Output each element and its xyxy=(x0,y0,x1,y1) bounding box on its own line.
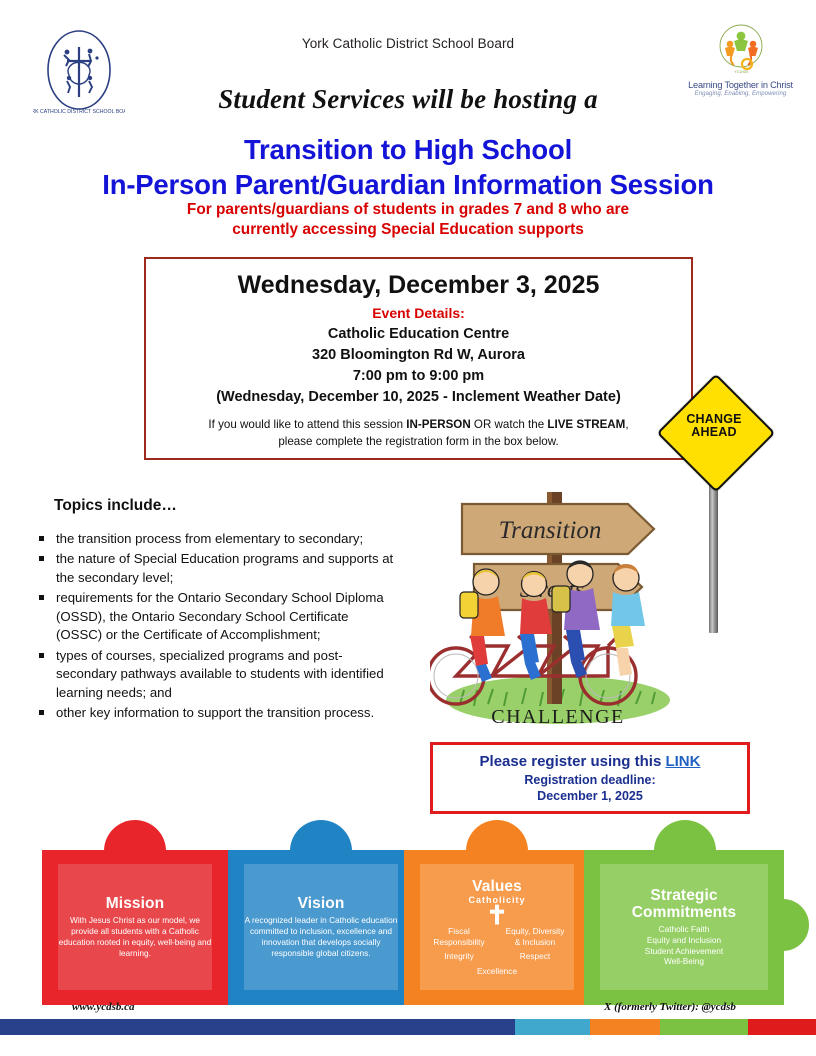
registration-deadline: Registration deadline: December 1, 2025 xyxy=(433,772,747,805)
svg-text:YCDSB: YCDSB xyxy=(734,69,748,74)
registration-box[interactable]: Please register using this LINK Registra… xyxy=(430,742,750,814)
list-item: types of courses, specialized programs a… xyxy=(36,647,396,702)
event-detail-lines: Catholic Education Centre 320 Bloomingto… xyxy=(146,324,691,408)
list-item: requirements for the Ontario Secondary S… xyxy=(36,589,396,644)
values-grid: Catholicity ✝ Fiscal Responsibility Equi… xyxy=(420,895,574,976)
puzzle-piece-values: Values Catholicity ✝ Fiscal Responsibili… xyxy=(404,850,590,1005)
note-pre: If you would like to attend this session xyxy=(208,418,406,431)
illus-ground-label: CHALLENGE xyxy=(491,706,624,728)
puzzle-inner: Vision A recognized leader in Catholic e… xyxy=(244,864,398,990)
note-inperson: IN-PERSON xyxy=(406,418,470,431)
note-livestream: LIVE STREAM xyxy=(547,418,625,431)
list-item: the nature of Special Education programs… xyxy=(36,550,396,587)
puzzle-title: Vision xyxy=(298,895,345,912)
page-title: Transition to High School In-Person Pare… xyxy=(0,133,816,202)
deadline-label: Registration deadline: xyxy=(433,772,747,788)
footer-website[interactable]: www.ycdsb.ca xyxy=(72,1001,135,1013)
puzzle-title: Values xyxy=(472,878,522,895)
event-venue: Catholic Education Centre xyxy=(146,324,691,345)
puzzle-body-text: Catholic Faith Equity and Inclusion Stud… xyxy=(645,924,723,967)
puzzle-inner: Mission With Jesus Christ as our model, … xyxy=(58,864,212,990)
puzzle-piece-mission: Mission With Jesus Christ as our model, … xyxy=(42,850,228,1005)
bar-segment-red xyxy=(748,1019,816,1035)
transition-streets-illustration: Transition Streets xyxy=(430,468,685,733)
puzzle-footer: Mission With Jesus Christ as our model, … xyxy=(0,828,816,1018)
change-ahead-sign: CHANGE AHEAD xyxy=(668,383,760,633)
puzzle-inner: Values Catholicity ✝ Fiscal Responsibili… xyxy=(420,864,574,990)
event-address: 320 Bloomington Rd W, Aurora xyxy=(146,345,691,366)
bar-segment-teal xyxy=(515,1019,590,1035)
sign-line-1: CHANGE xyxy=(668,413,760,426)
sign-text: CHANGE AHEAD xyxy=(668,413,760,440)
puzzle-title-line-2: Commitments xyxy=(632,904,736,921)
note-mid: OR watch the xyxy=(471,418,548,431)
bar-segment-green xyxy=(660,1019,748,1035)
event-date: Wednesday, December 3, 2025 xyxy=(146,271,691,300)
topics-list: the transition process from elementary t… xyxy=(36,530,396,725)
puzzle-piece-strategic: Strategic Commitments Catholic Faith Equ… xyxy=(584,850,784,1005)
bar-segment-blue xyxy=(0,1019,515,1035)
list-item: other key information to support the tra… xyxy=(36,704,396,722)
deadline-date: December 1, 2025 xyxy=(433,788,747,804)
value-equity: Equity, Diversity & Inclusion xyxy=(502,926,568,947)
value-excellence: Excellence xyxy=(420,966,574,976)
register-prefix: Please register using this xyxy=(480,753,666,770)
event-inclement-date: (Wednesday, December 10, 2025 - Inclemen… xyxy=(146,387,691,408)
title-line-1: Transition to High School xyxy=(0,133,816,168)
event-details-label: Event Details: xyxy=(146,305,691,321)
note-line-2: please complete the registration form in… xyxy=(162,434,675,451)
register-line: Please register using this LINK xyxy=(433,753,747,770)
value-integrity: Integrity xyxy=(426,951,492,961)
puzzle-title: Mission xyxy=(106,895,164,912)
topics-heading: Topics include… xyxy=(54,497,177,515)
list-item: the transition process from elementary t… xyxy=(36,530,396,548)
note-post: , xyxy=(625,418,628,431)
registration-link[interactable]: LINK xyxy=(665,753,700,770)
puzzle-body-text: With Jesus Christ as our model, we provi… xyxy=(58,915,212,958)
audience-subtitle: For parents/guardians of students in gra… xyxy=(0,200,816,241)
puzzle-title-line-1: Strategic xyxy=(650,887,717,904)
values-row-2: Integrity Respect xyxy=(426,951,568,961)
illus-sign-top-label: Transition xyxy=(499,517,602,544)
footer-social[interactable]: X (formerly Twitter): @ycdsb xyxy=(604,1001,736,1013)
cross-icon: ✝ xyxy=(420,904,574,926)
puzzle-body-text: A recognized leader in Catholic educatio… xyxy=(244,915,398,958)
bar-segment-orange xyxy=(590,1019,660,1035)
puzzle-piece-vision: Vision A recognized leader in Catholic e… xyxy=(228,850,414,1005)
puzzle-inner: Strategic Commitments Catholic Faith Equ… xyxy=(600,864,768,990)
value-respect: Respect xyxy=(502,951,568,961)
event-time: 7:00 pm to 9:00 pm xyxy=(146,366,691,387)
flyer-page: York Catholic District School Board YORK… xyxy=(0,0,816,1056)
subtitle-line-2: currently accessing Special Education su… xyxy=(0,220,816,240)
event-details-box: Wednesday, December 3, 2025 Event Detail… xyxy=(144,257,693,460)
hosting-line: Student Services will be hosting a xyxy=(0,84,816,115)
sign-line-2: AHEAD xyxy=(668,426,760,439)
title-line-2: In-Person Parent/Guardian Information Se… xyxy=(0,168,816,203)
value-fiscal: Fiscal Responsibility xyxy=(426,926,492,947)
footer-color-bar xyxy=(0,1019,816,1035)
event-note: If you would like to attend this session… xyxy=(146,417,691,451)
subtitle-line-1: For parents/guardians of students in gra… xyxy=(0,200,816,220)
